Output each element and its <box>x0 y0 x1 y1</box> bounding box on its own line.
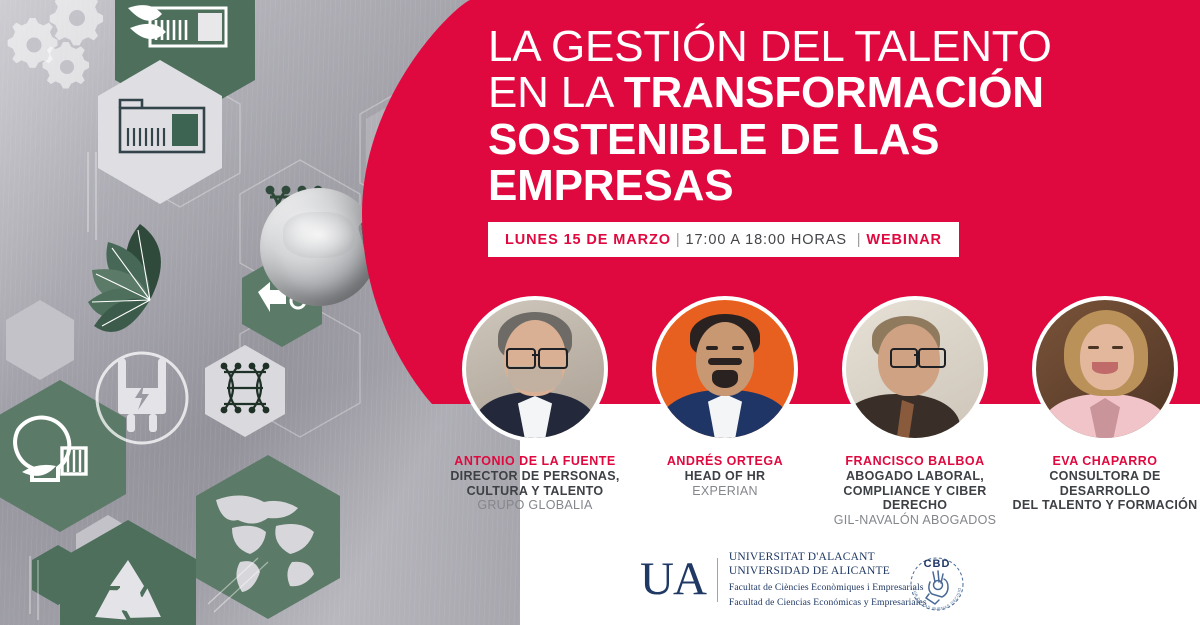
speaker-role-2a: HEAD OF HR <box>630 469 820 484</box>
event-format: WEBINAR <box>866 232 942 248</box>
page-title: LA GESTIÓN DEL TALENTO EN LA TRANSFORMAC… <box>488 24 1178 210</box>
speaker-name-4: EVA CHAPARRO <box>1010 454 1200 469</box>
event-date: LUNES 15 DE MARZO <box>505 232 671 248</box>
date-separator-1: | <box>671 232 686 248</box>
date-separator-2: | <box>847 232 866 248</box>
title-line-1: LA GESTIÓN DEL TALENTO <box>488 24 1178 70</box>
speaker-org-2: EXPERIAN <box>630 484 820 499</box>
speaker-card-3: FRANCISCO BALBOA ABOGADO LABORAL, COMPLI… <box>820 296 1010 528</box>
title-line-2-light: EN LA <box>488 68 624 117</box>
speaker-caption-3: FRANCISCO BALBOA ABOGADO LABORAL, COMPLI… <box>820 454 1010 528</box>
speaker-role-3b: COMPLIANCE Y CIBER DERECHO <box>820 484 1010 514</box>
avatar-ring-2 <box>652 296 798 442</box>
cbd-monogram: CBD <box>924 558 951 570</box>
webinar-poster: LA GESTIÓN DEL TALENTO EN LA TRANSFORMAC… <box>0 0 1200 625</box>
title-line-4: EMPRESAS <box>488 163 1178 209</box>
ua-logo: UA UNIVERSITAT D'ALACANT UNIVERSIDAD DE … <box>640 550 927 610</box>
avatar-ring-3 <box>842 296 988 442</box>
avatar-ring-4 <box>1032 296 1178 442</box>
ua-logo-text: UNIVERSITAT D'ALACANT UNIVERSIDAD DE ALI… <box>729 550 927 610</box>
speaker-org-3: GIL-NAVALÓN ABOGADOS <box>820 513 1010 528</box>
event-time: 17:00 A 18:00 HORAS <box>686 232 847 248</box>
avatar-3 <box>846 300 984 438</box>
avatar-ring-1 <box>462 296 608 442</box>
ua-name-spanish: UNIVERSIDAD DE ALICANTE <box>729 564 927 578</box>
speaker-card-2: ANDRÉS ORTEGA HEAD OF HR EXPERIAN <box>630 296 820 498</box>
ok-hand-icon <box>926 571 948 604</box>
event-date-banner: LUNES 15 DE MARZO | 17:00 A 18:00 HORAS … <box>488 222 959 257</box>
speaker-caption-1: ANTONIO DE LA FUENTE DIRECTOR DE PERSONA… <box>440 454 630 513</box>
cbd-logo: CBD EL CLUB DE LAS BUENAS DECISIONES <box>905 552 969 616</box>
speaker-org-1: GRUPO GLOBALIA <box>440 498 630 513</box>
speaker-role-4b: DEL TALENTO Y FORMACIÓN <box>1010 498 1200 513</box>
speaker-name-1: ANTONIO DE LA FUENTE <box>440 454 630 469</box>
ua-divider <box>717 558 718 602</box>
speaker-role-3a: ABOGADO LABORAL, <box>820 469 1010 484</box>
speaker-name-2: ANDRÉS ORTEGA <box>630 454 820 469</box>
avatar-1 <box>466 300 604 438</box>
speaker-caption-2: ANDRÉS ORTEGA HEAD OF HR EXPERIAN <box>630 454 820 498</box>
ua-name-valencian: UNIVERSITAT D'ALACANT <box>729 550 927 564</box>
speaker-caption-4: EVA CHAPARRO CONSULTORA DE DESARROLLO DE… <box>1010 454 1200 513</box>
ua-faculty-valencian: Facultat de Ciències Econòmiques i Empre… <box>729 582 927 594</box>
speaker-role-1b: CULTURA Y TALENTO <box>440 484 630 499</box>
ua-monogram: UA <box>640 556 717 603</box>
avatar-2 <box>656 300 794 438</box>
logo-row: UA UNIVERSITAT D'ALACANT UNIVERSIDAD DE … <box>0 548 1200 620</box>
speaker-name-3: FRANCISCO BALBOA <box>820 454 1010 469</box>
ua-faculty-spanish: Facultad de Ciencias Económicas y Empres… <box>729 597 927 609</box>
speaker-role-4a: CONSULTORA DE DESARROLLO <box>1010 469 1200 499</box>
speaker-card-4: EVA CHAPARRO CONSULTORA DE DESARROLLO DE… <box>1010 296 1200 513</box>
speaker-role-1a: DIRECTOR DE PERSONAS, <box>440 469 630 484</box>
title-line-2: EN LA TRANSFORMACIÓN <box>488 70 1178 116</box>
avatar-4 <box>1036 300 1174 438</box>
speaker-card-1: ANTONIO DE LA FUENTE DIRECTOR DE PERSONA… <box>440 296 630 513</box>
title-line-3: SOSTENIBLE DE LAS <box>488 117 1178 163</box>
title-line-2-bold: TRANSFORMACIÓN <box>624 68 1044 117</box>
speakers-row: ANTONIO DE LA FUENTE DIRECTOR DE PERSONA… <box>440 296 1200 546</box>
